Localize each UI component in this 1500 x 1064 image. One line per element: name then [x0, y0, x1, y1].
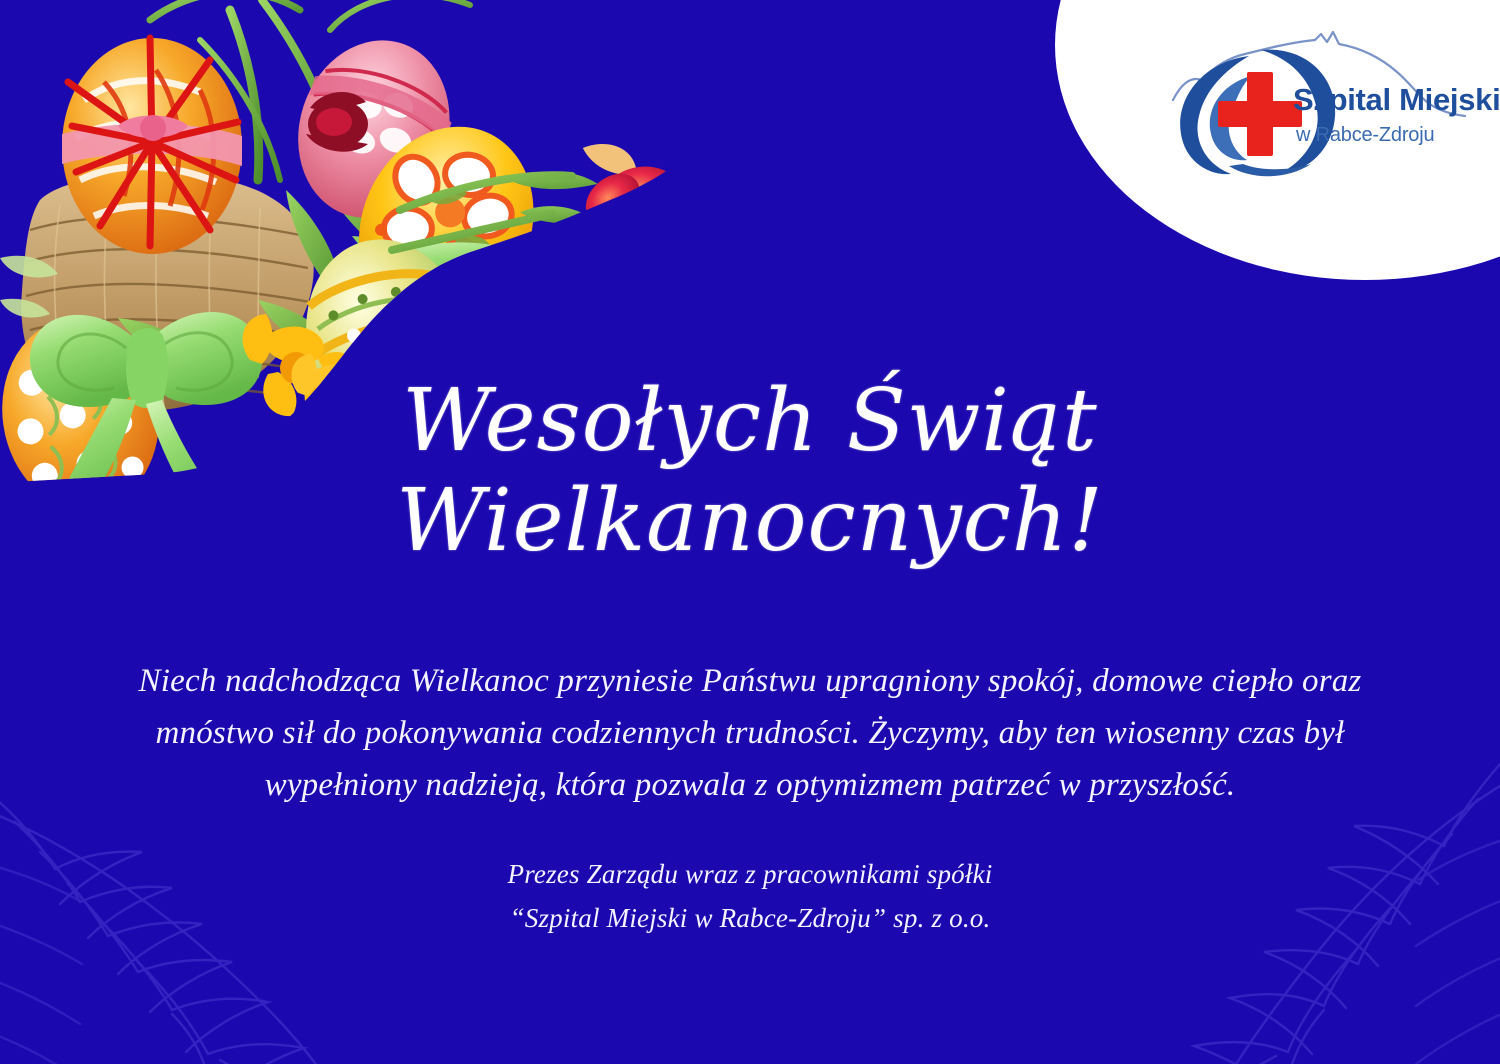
- signature-block: Prezes Zarządu wraz z pracownikami spółk…: [250, 852, 1250, 940]
- headline-line-1: Wesołych Świąt: [300, 372, 1200, 472]
- greeting-headline: Wesołych Świąt Wielkanocnych!: [300, 372, 1200, 572]
- headline-line-2: Wielkanocnych!: [300, 472, 1200, 572]
- message-line-3: wypełniony nadzieją, która pozwala z opt…: [70, 759, 1430, 811]
- message-line-2: mnóstwo sił do pokonywania codziennych t…: [70, 707, 1430, 759]
- signature-line-1: Prezes Zarządu wraz z pracownikami spółk…: [250, 852, 1250, 896]
- logo-subtitle: w Rabce-Zdroju: [1296, 124, 1434, 147]
- greeting-message: Niech nadchodząca Wielkanoc przyniesie P…: [70, 655, 1430, 811]
- easter-greeting-card: Szpital Miejski w Rabce-Zdroju Wesołych …: [0, 0, 1500, 1064]
- hospital-logo: Szpital Miejski w Rabce-Zdroju: [1165, 28, 1475, 178]
- logo-title: Szpital Miejski: [1293, 82, 1500, 118]
- signature-line-2: “Szpital Miejski w Rabce-Zdroju” sp. z o…: [250, 896, 1250, 940]
- message-line-1: Niech nadchodząca Wielkanoc przyniesie P…: [70, 655, 1430, 707]
